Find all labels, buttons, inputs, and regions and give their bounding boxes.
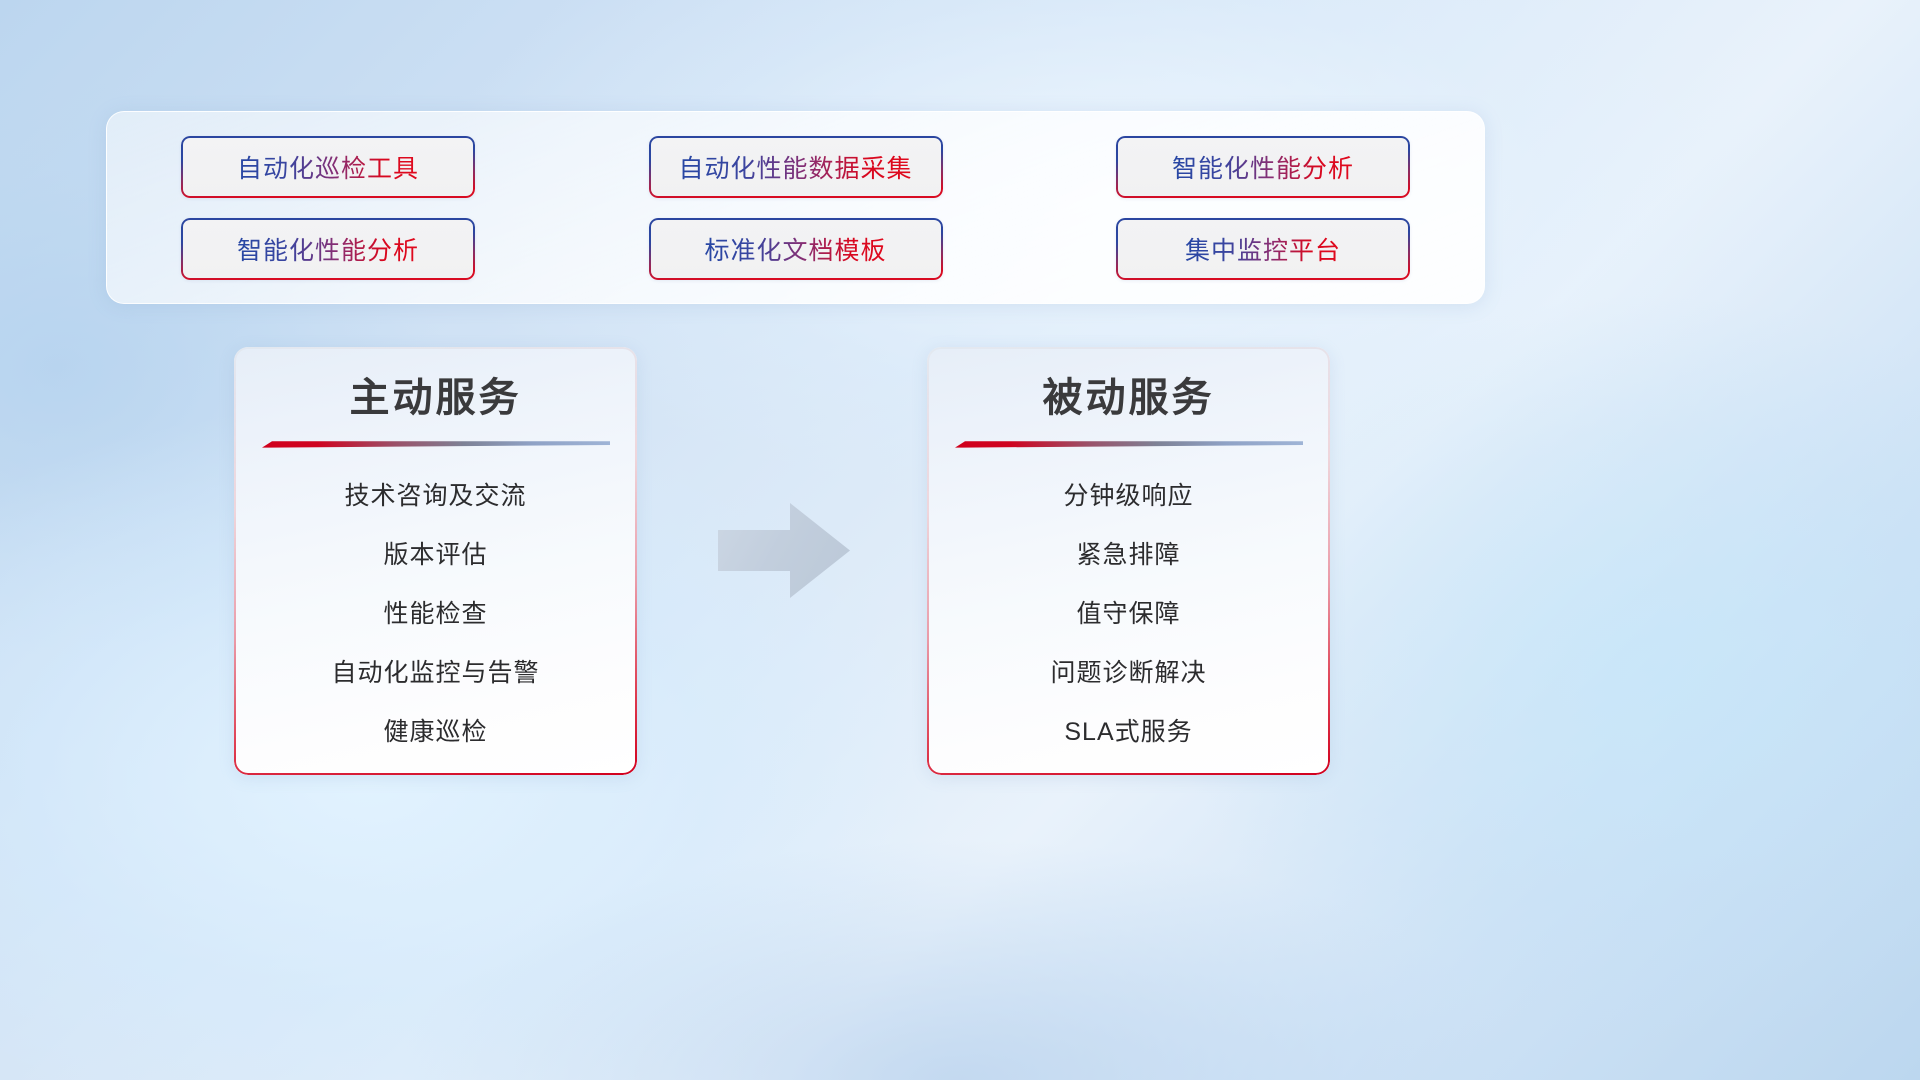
card-list-item[interactable]: 版本评估 <box>383 535 487 571</box>
card-item-list: 技术咨询及交流 版本评估 性能检查 自动化监控与告警 健康巡检 <box>262 476 609 748</box>
card-list-item[interactable]: 紧急排障 <box>1076 535 1180 571</box>
capability-pill-intelligent-performance-analysis-2[interactable]: 智能化性能分析 <box>181 218 475 280</box>
capability-pill-label: 自动化性能数据采集 <box>678 149 912 185</box>
card-list-item[interactable]: 自动化监控与告警 <box>331 653 539 689</box>
card-list-item[interactable]: 性能检查 <box>383 594 487 630</box>
arrow-right-icon <box>718 503 850 598</box>
capability-pill-automated-inspection-tool[interactable]: 自动化巡检工具 <box>181 136 475 198</box>
card-list-item[interactable]: 技术咨询及交流 <box>344 476 526 512</box>
capability-pill-automated-performance-data-collection[interactable]: 自动化性能数据采集 <box>649 136 943 198</box>
capability-row-1: 自动化巡检工具 自动化性能数据采集 智能化性能分析 <box>181 136 1410 198</box>
capability-pill-label: 智能化性能分析 <box>1172 149 1354 185</box>
card-divider-icon <box>262 439 610 448</box>
card-list-item[interactable]: 值守保障 <box>1076 594 1180 630</box>
card-list-item[interactable]: 健康巡检 <box>383 712 487 748</box>
capability-pill-label: 标准化文档模板 <box>704 231 886 267</box>
capability-panel: 自动化巡检工具 自动化性能数据采集 智能化性能分析 智能化性能分析 标准化文档模… <box>106 111 1485 304</box>
capability-pill-standardized-doc-template[interactable]: 标准化文档模板 <box>649 218 943 280</box>
card-title: 主动服务 <box>350 371 522 425</box>
card-list-item[interactable]: 分钟级响应 <box>1063 476 1193 512</box>
capability-pill-intelligent-performance-analysis[interactable]: 智能化性能分析 <box>1116 136 1410 198</box>
capability-row-2: 智能化性能分析 标准化文档模板 集中监控平台 <box>181 218 1410 280</box>
card-title: 被动服务 <box>1043 371 1215 425</box>
capability-pill-centralized-monitoring-platform[interactable]: 集中监控平台 <box>1116 218 1410 280</box>
card-list-item[interactable]: 问题诊断解决 <box>1050 653 1206 689</box>
card-list-item[interactable]: SLA式服务 <box>1064 712 1192 748</box>
card-divider-icon <box>955 439 1303 448</box>
service-card-passive[interactable]: 被动服务 分钟级响应 紧急排障 值守保障 问题诊断解决 SLA式服务 <box>927 347 1330 775</box>
capability-pill-label: 集中监控平台 <box>1185 231 1341 267</box>
capability-pill-label: 智能化性能分析 <box>237 231 419 267</box>
card-item-list: 分钟级响应 紧急排障 值守保障 问题诊断解决 SLA式服务 <box>955 476 1302 748</box>
service-card-active[interactable]: 主动服务 技术咨询及交流 版本评估 性能检查 自动化监控与告警 健康巡检 <box>234 347 637 775</box>
capability-pill-label: 自动化巡检工具 <box>237 149 419 185</box>
